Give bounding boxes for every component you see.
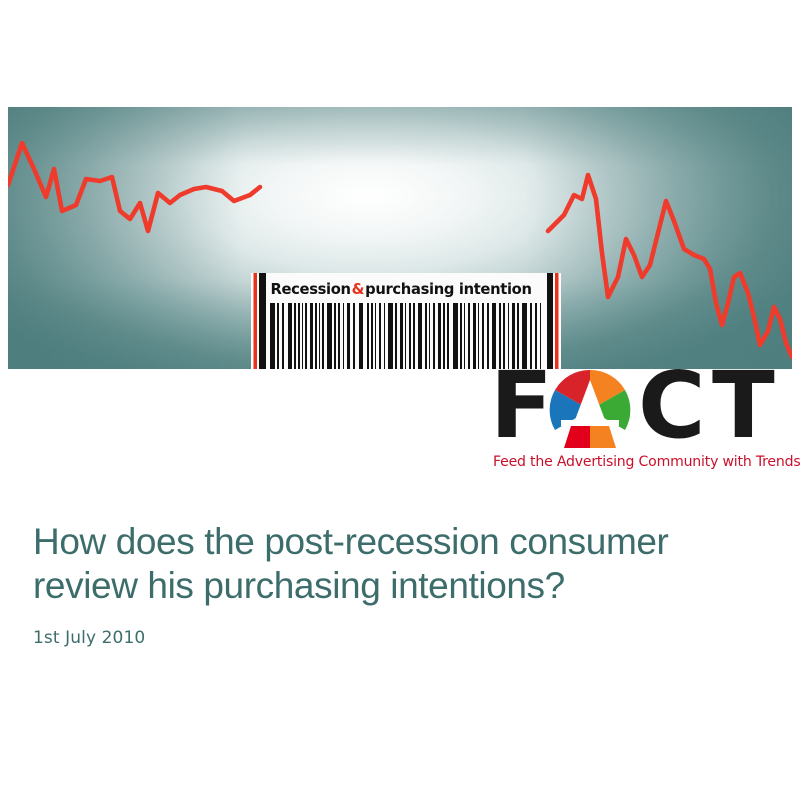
fact-logo: F C T [490,368,792,476]
hero-banner: Recession & purchasing intention [8,107,792,369]
page-title-line-1: How does the post-recession consumer [33,521,668,562]
page-title: How does the post-recession consumerrevi… [33,520,763,608]
fact-a-pie-mark [547,370,633,448]
barcode-caption-prefix: Recession [270,280,350,298]
presentation-date: 1st July 2010 [33,628,763,648]
fact-letter-f: F [490,364,551,448]
barcode-caption-ampersand: & [351,280,365,298]
title-block: How does the post-recession consumerrevi… [33,520,763,648]
barcode-caption: Recession & purchasing intention [269,276,533,302]
page-title-line-2: review his purchasing intentions? [33,565,565,606]
fact-tagline: Feed the Advertising Community with Tren… [493,454,800,470]
barcode-caption-suffix: purchasing intention [365,280,531,298]
fact-wordmark: F C T [490,368,792,452]
fact-letter-t: T [712,364,773,448]
fact-letter-c: C [638,364,704,448]
